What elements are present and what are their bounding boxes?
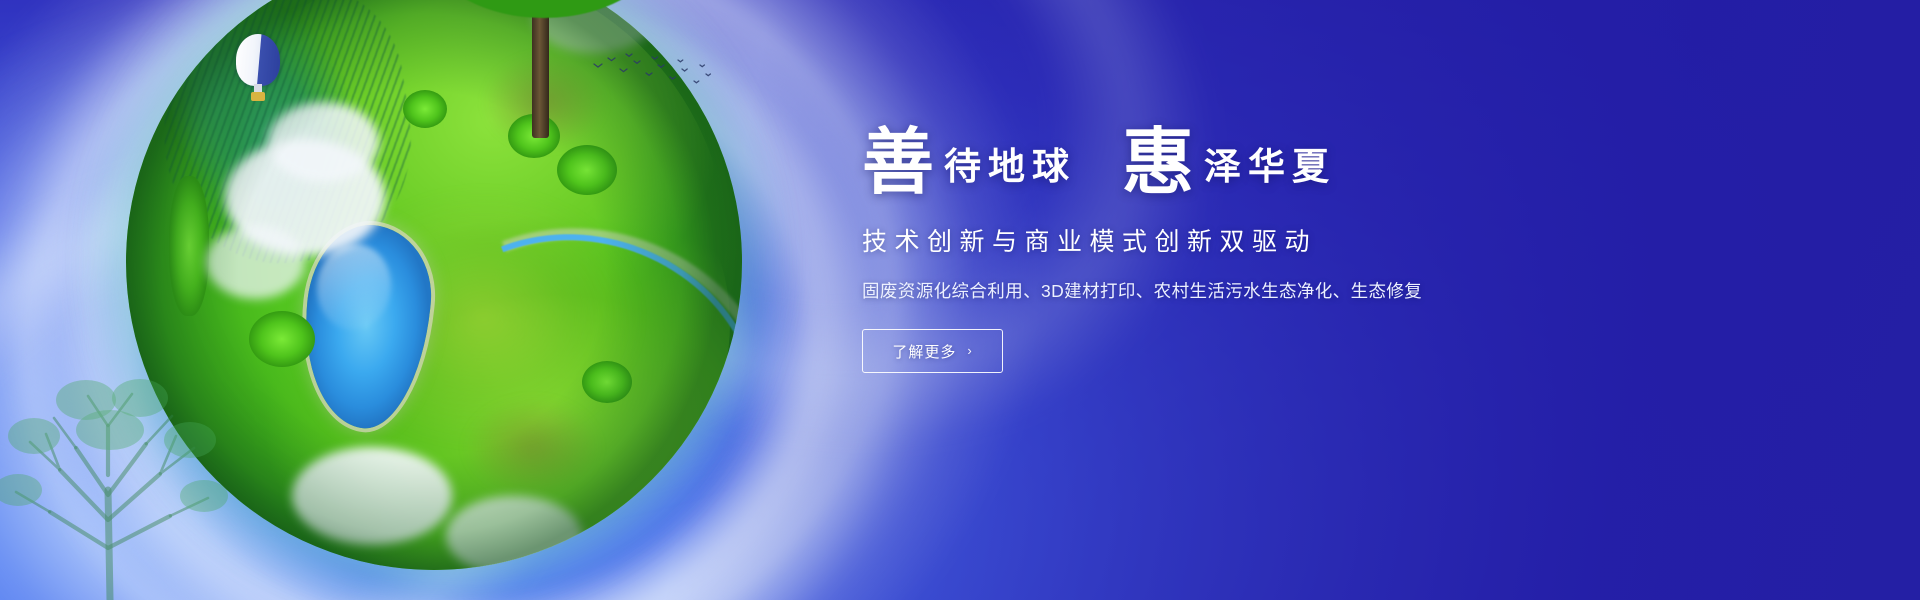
learn-more-button[interactable]: 了解更多 › [862, 329, 1003, 373]
hot-air-balloon-icon [236, 34, 280, 108]
page-title: 善 待地球 惠 泽华夏 [862, 122, 1482, 194]
headline-char-hui: 惠 [1122, 126, 1194, 198]
hero-banner: 善 待地球 惠 泽华夏 技术创新与商业模式创新双驱动 固废资源化综合利用、3D建… [0, 0, 1920, 600]
hero-subtitle: 技术创新与商业模式创新双驱动 [862, 222, 1482, 258]
headline-char-shan: 善 [862, 126, 934, 198]
bird-flock-icon [590, 52, 720, 92]
learn-more-label: 了解更多 [892, 341, 956, 362]
headline-text-daidiqiu: 待地球 [934, 148, 1076, 194]
chevron-right-icon: › [967, 343, 972, 358]
hero-description: 固废资源化综合利用、3D建材打印、农村生活污水生态净化、生态修复 [862, 278, 1482, 303]
headline-text-zehuaxia: 泽华夏 [1194, 148, 1336, 194]
foreground-tree-silhouette [0, 370, 230, 600]
hero-copy: 善 待地球 惠 泽华夏 技术创新与商业模式创新双驱动 固废资源化综合利用、3D建… [862, 122, 1482, 373]
